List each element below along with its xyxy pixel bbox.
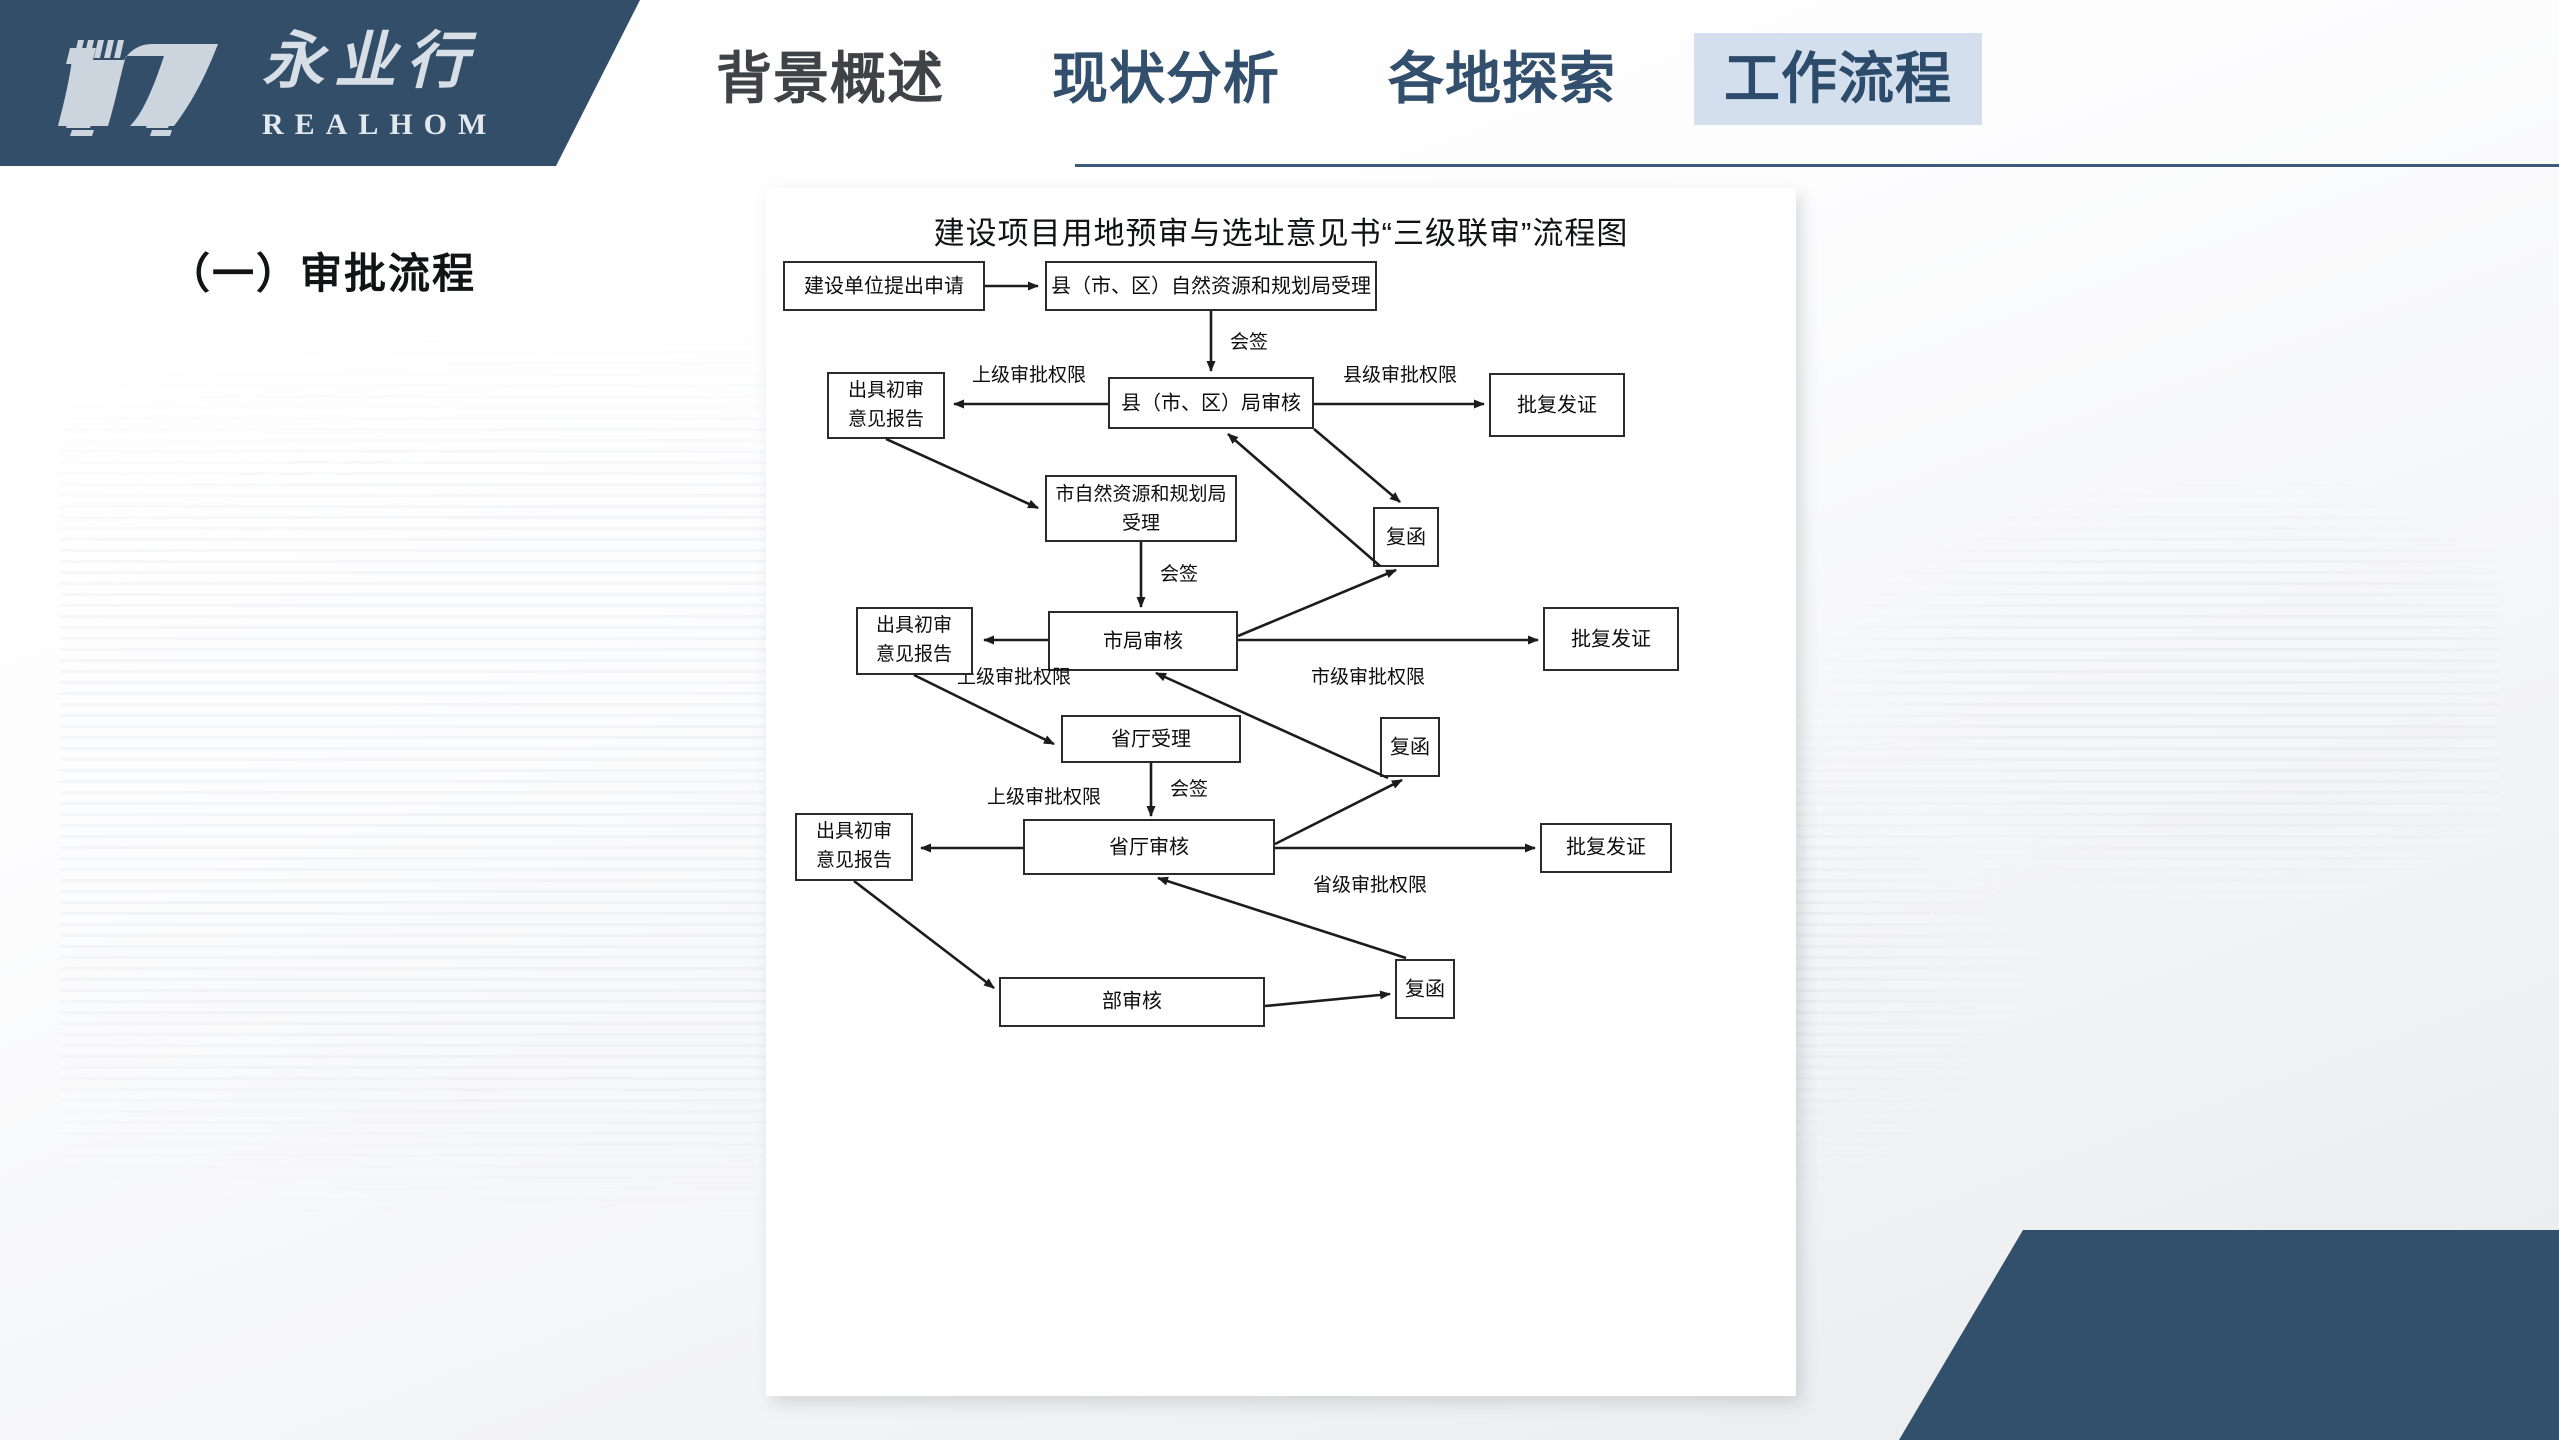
edge-label-countersign-3: 会签	[1170, 778, 1208, 800]
node-prov-report-label-line1: 出具初审	[816, 820, 892, 842]
header-accent-rule	[1075, 164, 2559, 167]
node-county-accept-label: 县（市、区）自然资源和规划局受理	[1051, 274, 1371, 297]
node-prov-report-label-line2: 意见报告	[816, 849, 892, 871]
node-county-issue-label: 批复发证	[1517, 393, 1597, 416]
slide-header: 永业行 REALHOM 背景概述 现状分析 各地探索 工作流程	[0, 0, 2559, 168]
nav-tab-regional-exploration[interactable]: 各地探索	[1362, 35, 1642, 123]
node-county-report-label-line1: 出具初审	[848, 379, 924, 401]
edge-label-upper-auth-2: 上级审批权限	[957, 666, 1071, 688]
node-city-issue-label: 批复发证	[1571, 627, 1651, 650]
edge-label-upper-auth-3: 上级审批权限	[987, 786, 1101, 808]
nav-tab-current-analysis[interactable]: 现状分析	[1026, 35, 1306, 123]
edge-label-prov-auth: 省级审批权限	[1313, 874, 1427, 896]
realhom-h-logo-icon	[56, 30, 286, 140]
node-reply-city-label: 复函	[1386, 525, 1426, 548]
node-city-accept-label-line2: 受理	[1122, 512, 1160, 534]
brand-name-cn: 永业行	[262, 18, 562, 108]
node-city-report-label-line1: 出具初审	[876, 614, 952, 636]
edge-city-review-to-reply	[1238, 570, 1396, 636]
node-prov-issue-label: 批复发证	[1566, 835, 1646, 858]
node-reply-prov-label: 复函	[1390, 735, 1430, 758]
edge-label-city-auth: 市级审批权限	[1311, 666, 1425, 688]
section-title: （一）审批流程	[168, 240, 476, 301]
edge-ministry-to-reply	[1265, 994, 1390, 1006]
edge-county-review-to-reply	[1314, 429, 1400, 502]
top-navigation: 背景概述 现状分析 各地探索 工作流程	[690, 24, 1982, 134]
nav-tab-workflow[interactable]: 工作流程	[1694, 33, 1982, 125]
node-ministry-review-label: 部审核	[1102, 989, 1162, 1012]
node-prov-accept-label: 省厅受理	[1111, 727, 1191, 750]
flowchart-diagram: 建设单位提出申请 县（市、区）自然资源和规划局受理 会签 县（市、区）局审核 上…	[766, 188, 1796, 1396]
node-county-report-label-line2: 意见报告	[848, 408, 924, 430]
node-apply-label: 建设单位提出申请	[804, 274, 964, 297]
node-reply-ministry-label: 复函	[1405, 977, 1445, 1000]
edge-prov-report-to-ministry	[854, 881, 994, 988]
node-city-report-label-line2: 意见报告	[876, 643, 952, 665]
node-city-accept-label-line1: 市自然资源和规划局	[1055, 483, 1226, 505]
edge-label-upper-auth-1: 上级审批权限	[972, 364, 1086, 386]
node-prov-review-label: 省厅审核	[1109, 835, 1189, 858]
edge-label-county-auth: 县级审批权限	[1343, 364, 1457, 386]
nav-tab-background-overview[interactable]: 背景概述	[690, 35, 970, 123]
node-county-review-label: 县（市、区）局审核	[1121, 391, 1301, 414]
edge-label-countersign-2: 会签	[1160, 563, 1198, 585]
node-city-review-label: 市局审核	[1103, 629, 1183, 652]
edge-label-countersign-1: 会签	[1230, 331, 1268, 353]
brand-plate: 永业行 REALHOM	[0, 0, 640, 166]
edge-county-report-to-city-accept	[886, 439, 1038, 508]
slide-root: 永业行 REALHOM 背景概述 现状分析 各地探索 工作流程 （一）审批流程 …	[0, 0, 2559, 1440]
flowchart-card: 建设项目用地预审与选址意见书“三级联审”流程图 建设单位提出申请 县（市、区）自…	[766, 188, 1796, 1396]
edge-prov-review-up-to-reply	[1275, 780, 1402, 844]
bottom-right-decor-shape	[1899, 1230, 2559, 1440]
brand-name-latin: REALHOM	[262, 108, 497, 142]
